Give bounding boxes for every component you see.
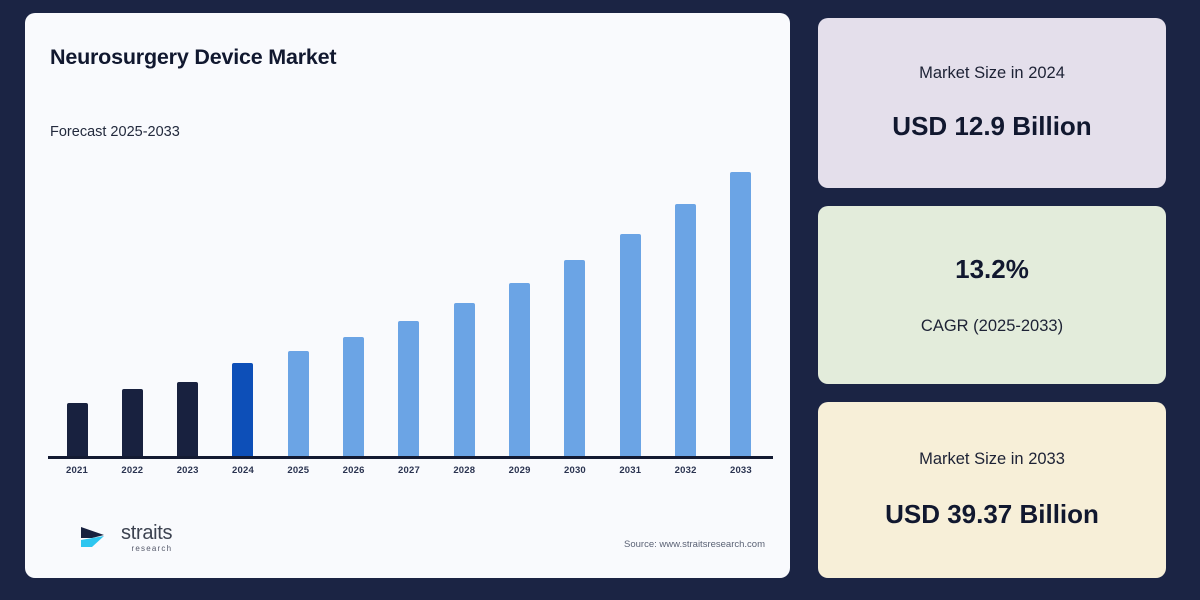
logo-subtitle: research: [132, 545, 173, 553]
bar-2023: [177, 382, 198, 456]
stat-card-label: Market Size in 2024: [919, 64, 1065, 83]
bar-slot: [54, 153, 100, 456]
x-axis-label-2029: 2029: [497, 465, 543, 476]
straits-arrow-logo-icon: [78, 521, 112, 555]
stat-card-value: 13.2%: [955, 254, 1029, 285]
logo-wordmark: straits: [121, 523, 172, 543]
x-axis-label-2032: 2032: [663, 465, 709, 476]
chart-subtitle: Forecast 2025-2033: [50, 124, 180, 140]
page-title: Neurosurgery Device Market: [50, 45, 336, 70]
stat-card-label: Market Size in 2033: [919, 450, 1065, 469]
bar-2032: [675, 204, 696, 456]
bar-2024: [232, 363, 253, 456]
stat-card-value: USD 39.37 Billion: [885, 499, 1099, 530]
bar-slot: [165, 153, 211, 456]
x-axis-tick-labels: 2021202220232024202520262027202820292030…: [48, 465, 770, 476]
x-axis-label-2023: 2023: [165, 465, 211, 476]
bar-2033: [730, 172, 751, 456]
bar-slot: [441, 153, 487, 456]
bar-2031: [620, 234, 641, 456]
stat-card-label: CAGR (2025-2033): [921, 317, 1063, 336]
x-axis-label-2021: 2021: [54, 465, 100, 476]
x-axis-label-2026: 2026: [331, 465, 377, 476]
stat-card-value: USD 12.9 Billion: [892, 111, 1091, 142]
bar-slot: [220, 153, 266, 456]
bar-slot: [109, 153, 155, 456]
bar-slot: [607, 153, 653, 456]
x-axis-label-2027: 2027: [386, 465, 432, 476]
bar-series: [48, 153, 770, 456]
bar-2025: [288, 351, 309, 456]
bar-2028: [454, 303, 475, 456]
source-note: Source: www.straitsresearch.com: [624, 539, 765, 550]
stat-card-market-size-2033: Market Size in 2033 USD 39.37 Billion: [818, 402, 1166, 578]
stat-card-market-size-2024: Market Size in 2024 USD 12.9 Billion: [818, 18, 1166, 188]
x-axis-label-2024: 2024: [220, 465, 266, 476]
bar-2021: [67, 403, 88, 456]
x-axis-label-2022: 2022: [109, 465, 155, 476]
x-axis-label-2030: 2030: [552, 465, 598, 476]
brand-logo: straits research: [78, 521, 172, 555]
bar-slot: [718, 153, 764, 456]
x-axis-label-2031: 2031: [607, 465, 653, 476]
x-axis-label-2033: 2033: [718, 465, 764, 476]
stat-card-cagr: 13.2% CAGR (2025-2033): [818, 206, 1166, 384]
bar-2026: [343, 337, 364, 456]
bar-2030: [564, 260, 585, 456]
bar-slot: [386, 153, 432, 456]
bar-slot: [275, 153, 321, 456]
bar-slot: [331, 153, 377, 456]
bar-2022: [122, 389, 143, 456]
logo-text: straits research: [121, 523, 172, 553]
bar-slot: [552, 153, 598, 456]
bar-2029: [509, 283, 530, 456]
bar-slot: [663, 153, 709, 456]
bar-slot: [497, 153, 543, 456]
x-axis-line: [48, 456, 773, 459]
x-axis-label-2028: 2028: [441, 465, 487, 476]
x-axis-label-2025: 2025: [275, 465, 321, 476]
bar-chart-plot-area: [48, 153, 770, 456]
infographic-root: Neurosurgery Device Market Forecast 2025…: [0, 0, 1200, 600]
bar-2027: [398, 321, 419, 456]
chart-panel: Neurosurgery Device Market Forecast 2025…: [25, 13, 790, 578]
